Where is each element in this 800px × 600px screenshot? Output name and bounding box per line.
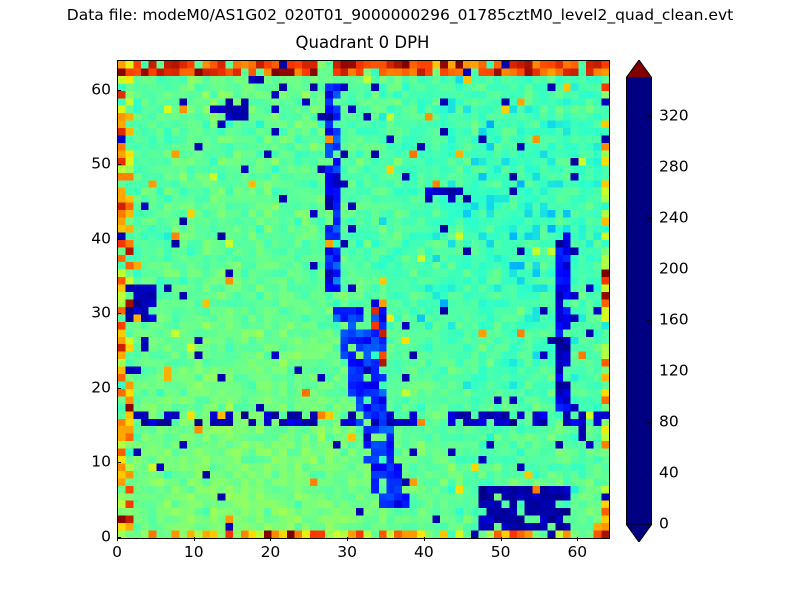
x-tick-label: 40: [414, 544, 434, 561]
x-tick-mark: [501, 537, 502, 541]
colorbar-tick-label: 160: [659, 312, 689, 329]
colorbar-tick-mark: [647, 320, 652, 321]
plot-title: Quadrant 0 DPH: [117, 33, 608, 53]
x-tick-mark: [194, 537, 195, 541]
colorbar-tick-label: 320: [659, 108, 689, 125]
y-tick-mark: [117, 537, 121, 538]
x-tick-label: 0: [112, 544, 122, 561]
data-file-suptitle: Data file: modeM0/AS1G02_020T01_90000002…: [0, 6, 800, 24]
y-tick-label: 0: [83, 529, 111, 546]
colorbar-extend-top-arrow: [626, 60, 652, 78]
colorbar-tick-mark: [647, 371, 652, 372]
x-tick-mark: [347, 537, 348, 541]
y-tick-mark: [117, 388, 121, 389]
colorbar-tick-label: 80: [659, 414, 679, 431]
colorbar-extend-bottom-arrow: [626, 524, 652, 542]
colorbar[interactable]: 04080120160200240280320: [626, 60, 746, 542]
colorbar-tick-mark: [647, 473, 652, 474]
colorbar-gradient: [626, 78, 652, 524]
detector-pixel-heatmap[interactable]: [118, 61, 609, 538]
colorbar-tick-mark: [647, 422, 652, 423]
y-tick-label: 30: [83, 305, 111, 322]
figure-canvas: Data file: modeM0/AS1G02_020T01_90000002…: [0, 0, 800, 600]
x-tick-label: 30: [337, 544, 357, 561]
x-tick-mark: [424, 537, 425, 541]
y-tick-label: 10: [83, 454, 111, 471]
x-tick-label: 60: [567, 544, 587, 561]
y-tick-label: 40: [83, 230, 111, 247]
y-tick-label: 60: [83, 81, 111, 98]
x-tick-label: 50: [491, 544, 511, 561]
y-tick-mark: [117, 164, 121, 165]
colorbar-tick-mark: [647, 524, 652, 525]
y-tick-mark: [117, 313, 121, 314]
colorbar-tick-mark: [647, 167, 652, 168]
colorbar-tick-mark: [647, 269, 652, 270]
colorbar-tick-label: 200: [659, 261, 689, 278]
colorbar-tick-label: 120: [659, 363, 689, 380]
colorbar-tick-label: 0: [659, 516, 669, 533]
x-tick-mark: [577, 537, 578, 541]
y-tick-mark: [117, 462, 121, 463]
colorbar-tick-label: 280: [659, 159, 689, 176]
y-tick-mark: [117, 239, 121, 240]
colorbar-body: 04080120160200240280320: [626, 78, 652, 524]
y-tick-mark: [117, 90, 121, 91]
x-tick-label: 20: [261, 544, 281, 561]
x-tick-mark: [270, 537, 271, 541]
colorbar-tick-label: 40: [659, 465, 679, 482]
x-tick-label: 10: [184, 544, 204, 561]
colorbar-tick-mark: [647, 116, 652, 117]
heatmap-plot-area[interactable]: [117, 60, 610, 539]
colorbar-tick-mark: [647, 218, 652, 219]
y-tick-label: 50: [83, 156, 111, 173]
y-tick-label: 20: [83, 379, 111, 396]
colorbar-tick-label: 240: [659, 210, 689, 227]
